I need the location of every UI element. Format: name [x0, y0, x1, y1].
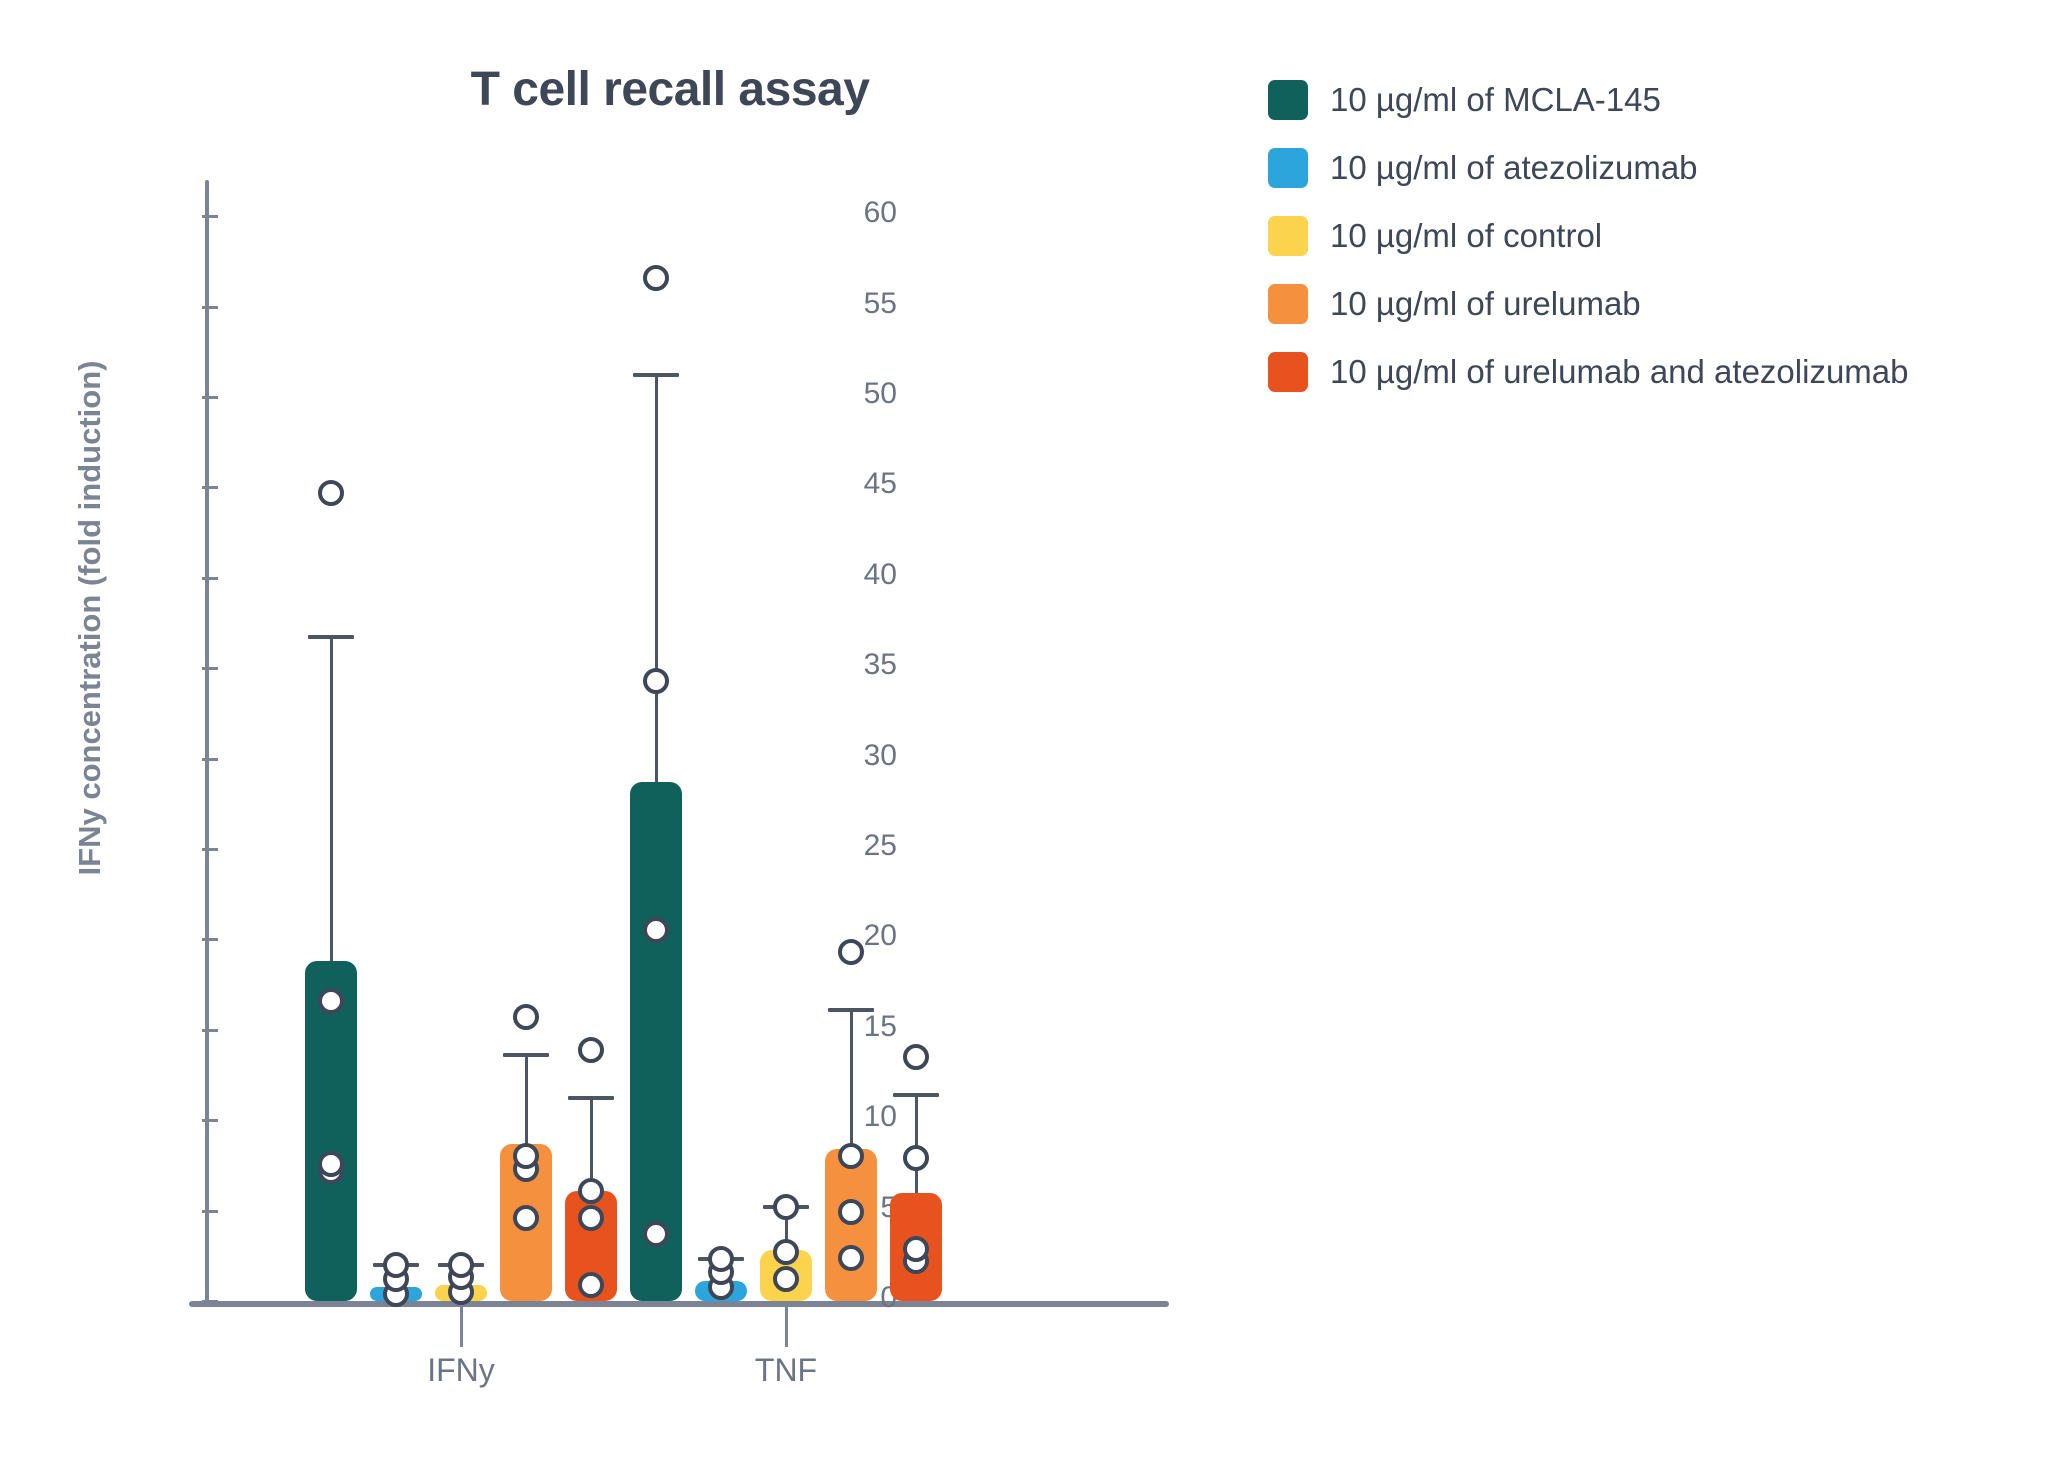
plot-area: 051015202530354045505560 IFNyTNF: [205, 180, 925, 1310]
legend-item-label: 10 µg/ml of MCLA-145: [1330, 81, 1661, 119]
legend-item-label: 10 µg/ml of control: [1330, 217, 1602, 255]
legend-item-label: 10 µg/ml of atezolizumab: [1330, 149, 1698, 187]
data-point[interactable]: [838, 1245, 864, 1271]
chart-legend: 10 µg/ml of MCLA-14510 µg/ml of atezoliz…: [1268, 78, 2008, 418]
y-tick-mark: [202, 938, 218, 941]
error-bar-stem: [655, 375, 658, 796]
y-tick-label: 10: [797, 1100, 897, 1134]
data-point[interactable]: [643, 668, 669, 694]
data-point[interactable]: [318, 1151, 344, 1177]
error-bar-stem: [850, 1010, 853, 1163]
data-point[interactable]: [578, 1272, 604, 1298]
y-tick-mark: [202, 306, 218, 309]
error-bar-cap: [633, 373, 679, 377]
data-point[interactable]: [513, 1205, 539, 1231]
legend-color-swatch: [1268, 352, 1308, 392]
data-point[interactable]: [643, 1221, 669, 1247]
error-bar-cap: [828, 1008, 874, 1012]
y-tick-label: 30: [797, 739, 897, 773]
y-axis-line: [205, 180, 209, 1303]
error-bar-cap: [893, 1093, 939, 1097]
y-tick-label: 35: [797, 648, 897, 682]
y-tick-mark: [202, 848, 218, 851]
legend-color-swatch: [1268, 284, 1308, 324]
legend-item-label: 10 µg/ml of urelumab and atezolizumab: [1330, 353, 1909, 391]
y-tick-mark: [202, 486, 218, 489]
y-tick-mark: [202, 396, 218, 399]
x-tick-mark: [785, 1307, 788, 1347]
legend-color-swatch: [1268, 216, 1308, 256]
data-point[interactable]: [643, 265, 669, 291]
y-tick-mark: [202, 215, 218, 218]
error-bar-stem: [525, 1055, 528, 1158]
error-bar-cap: [503, 1053, 549, 1057]
y-tick-mark: [202, 1300, 218, 1303]
data-point[interactable]: [773, 1194, 799, 1220]
y-tick-mark: [202, 577, 218, 580]
data-point[interactable]: [513, 1004, 539, 1030]
legend-item-label: 10 µg/ml of urelumab: [1330, 285, 1641, 323]
y-tick-mark: [202, 667, 218, 670]
data-point[interactable]: [318, 988, 344, 1014]
data-point[interactable]: [578, 1205, 604, 1231]
error-bar-cap: [568, 1096, 614, 1100]
y-tick-label: 60: [797, 196, 897, 230]
chart-title: T cell recall assay: [430, 62, 910, 117]
legend-item[interactable]: 10 µg/ml of control: [1268, 214, 2008, 258]
x-tick-mark: [460, 1307, 463, 1347]
x-tick-label-ifny: IFNy: [361, 1352, 561, 1389]
y-tick-mark: [202, 1210, 218, 1213]
legend-color-swatch: [1268, 148, 1308, 188]
data-point[interactable]: [578, 1037, 604, 1063]
legend-item[interactable]: 10 µg/ml of urelumab: [1268, 282, 2008, 326]
data-point[interactable]: [318, 480, 344, 506]
y-tick-mark: [202, 1029, 218, 1032]
y-tick-label: 50: [797, 377, 897, 411]
legend-item[interactable]: 10 µg/ml of MCLA-145: [1268, 78, 2008, 122]
data-point[interactable]: [903, 1044, 929, 1070]
y-tick-mark: [202, 758, 218, 761]
y-tick-label: 45: [797, 467, 897, 501]
data-point[interactable]: [578, 1178, 604, 1204]
bar[interactable]: [825, 1149, 877, 1301]
y-tick-label: 40: [797, 558, 897, 592]
data-point[interactable]: [903, 1145, 929, 1171]
legend-item[interactable]: 10 µg/ml of atezolizumab: [1268, 146, 2008, 190]
y-tick-mark: [202, 1119, 218, 1122]
legend-item[interactable]: 10 µg/ml of urelumab and atezolizumab: [1268, 350, 2008, 394]
data-point[interactable]: [383, 1252, 409, 1278]
data-point[interactable]: [448, 1252, 474, 1278]
y-tick-label: 55: [797, 287, 897, 321]
error-bar-cap: [308, 635, 354, 639]
y-tick-label: 25: [797, 829, 897, 863]
y-axis-label: IFNy concentration (fold induction): [72, 298, 108, 938]
x-tick-label-tnf: TNF: [686, 1352, 886, 1389]
chart-canvas: T cell recall assay IFNy concentration (…: [0, 0, 2048, 1461]
data-point[interactable]: [773, 1239, 799, 1265]
y-tick-label: 15: [797, 1010, 897, 1044]
legend-color-swatch: [1268, 80, 1308, 120]
x-axis-line: [189, 1301, 1169, 1307]
error-bar-stem: [330, 637, 333, 975]
data-point[interactable]: [838, 939, 864, 965]
data-point[interactable]: [903, 1236, 929, 1262]
